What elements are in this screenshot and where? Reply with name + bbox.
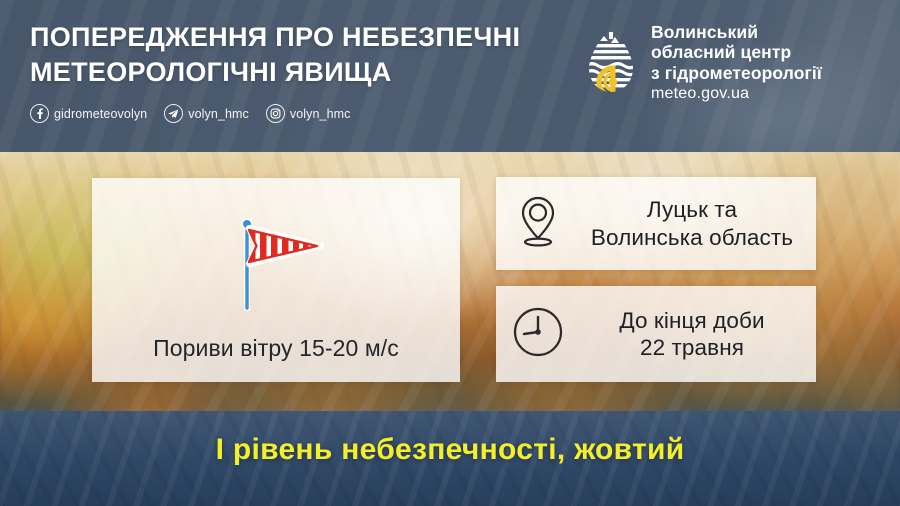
- page-title-line1: ПОПЕРЕДЖЕННЯ ПРО НЕБЕЗПЕЧНІ: [30, 22, 520, 52]
- social-handle-instagram: volyn_hmc: [290, 107, 351, 121]
- location-text: Луцьк та Волинська область: [580, 196, 816, 251]
- telegram-icon: [164, 104, 183, 123]
- map-pin-icon: [516, 194, 560, 253]
- card-location: Луцьк та Волинська область: [496, 177, 816, 270]
- social-link-facebook[interactable]: gidrometeovolyn: [30, 104, 147, 123]
- time-text: До кінця доби 22 травня: [580, 307, 816, 362]
- header-bar: ПОПЕРЕДЖЕННЯ ПРО НЕБЕЗПЕЧНІ МЕТЕОРОЛОГІЧ…: [0, 0, 900, 152]
- location-line2: Волинська область: [580, 224, 804, 251]
- danger-level-text: І рівень небезпечності, жовтий: [0, 433, 900, 467]
- time-line2: 22 травня: [580, 334, 804, 361]
- logo-line1: Волинський: [651, 22, 758, 42]
- facebook-icon: [30, 104, 49, 123]
- weather-warning-poster: ПОПЕРЕДЖЕННЯ ПРО НЕБЕЗПЕЧНІ МЕТЕОРОЛОГІЧ…: [0, 0, 900, 506]
- organisation-logo: Волинський обласний центр з гідрометеоро…: [583, 22, 822, 104]
- droplet-logo-icon: [583, 22, 639, 100]
- wind-icon-wrap: [92, 204, 460, 327]
- instagram-icon: [266, 104, 285, 123]
- card-wind: Пориви вітру 15-20 м/с: [92, 178, 460, 382]
- clock-icon-wrap: [496, 305, 580, 364]
- social-links: gidrometeovolyn volyn_hmc: [30, 104, 351, 123]
- clock-icon: [511, 305, 565, 364]
- map-pin-icon-wrap: [496, 194, 580, 253]
- logo-line3: з гідрометеорології: [651, 63, 822, 83]
- social-handle-facebook: gidrometeovolyn: [54, 107, 147, 121]
- page-title: ПОПЕРЕДЖЕННЯ ПРО НЕБЕЗПЕЧНІ МЕТЕОРОЛОГІЧ…: [30, 20, 570, 89]
- card-time: До кінця доби 22 травня: [496, 286, 816, 382]
- logo-text: Волинський обласний центр з гідрометеоро…: [651, 22, 822, 104]
- social-link-instagram[interactable]: volyn_hmc: [266, 104, 351, 123]
- time-line1: До кінця доби: [619, 308, 764, 333]
- location-line1: Луцьк та: [647, 197, 737, 222]
- social-link-telegram[interactable]: volyn_hmc: [164, 104, 249, 123]
- logo-website: meteo.gov.ua: [651, 85, 822, 104]
- social-handle-telegram: volyn_hmc: [188, 107, 249, 121]
- wind-pennant-icon: [217, 204, 335, 327]
- wind-label: Пориви вітру 15-20 м/с: [92, 335, 460, 362]
- logo-line2: обласний центр: [651, 42, 791, 62]
- page-title-line2: МЕТЕОРОЛОГІЧНІ ЯВИЩА: [30, 55, 570, 90]
